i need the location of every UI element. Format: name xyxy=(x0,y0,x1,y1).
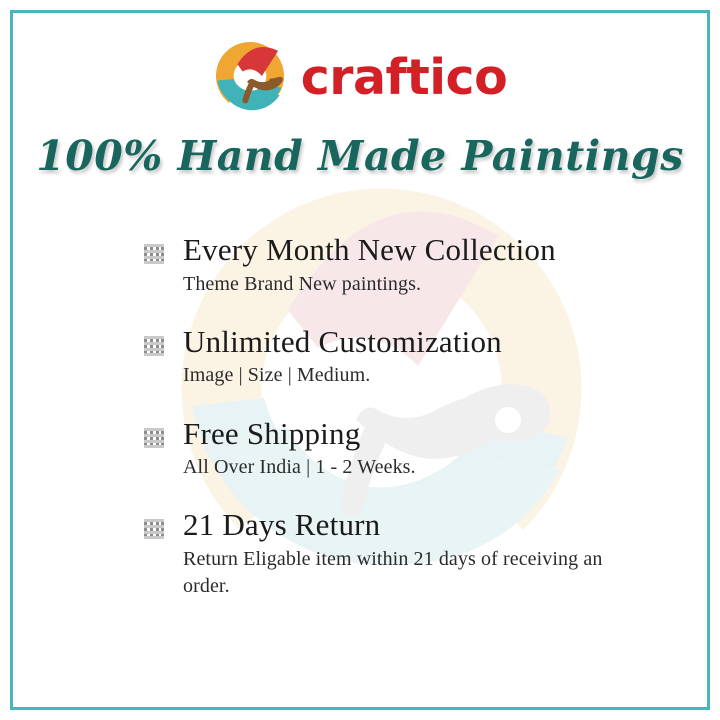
woven-square-bullet-icon xyxy=(143,518,165,540)
feature-title: Free Shipping xyxy=(183,416,613,453)
feature-subtitle: All Over India | 1 - 2 Weeks. xyxy=(183,454,613,481)
woven-square-bullet-icon xyxy=(143,243,165,265)
list-item: Free Shipping All Over India | 1 - 2 Wee… xyxy=(143,416,613,482)
feature-title: Unlimited Customization xyxy=(183,324,613,361)
woven-square-bullet-icon xyxy=(143,427,165,449)
feature-subtitle: Image | Size | Medium. xyxy=(183,362,613,389)
brand-logo: craftico xyxy=(0,34,720,118)
feature-subtitle: Theme Brand New paintings. xyxy=(183,271,613,298)
feature-title: Every Month New Collection xyxy=(183,232,613,269)
page-title: 100% Hand Made Paintings xyxy=(0,132,720,180)
craftico-c-brush-logo-icon xyxy=(213,39,287,113)
list-item: Unlimited Customization Image | Size | M… xyxy=(143,324,613,390)
list-item: Every Month New Collection Theme Brand N… xyxy=(143,232,613,298)
brand-wordmark: craftico xyxy=(301,53,508,102)
list-item: 21 Days Return Return Eligable item with… xyxy=(143,507,613,600)
feature-title: 21 Days Return xyxy=(183,507,613,544)
woven-square-bullet-icon xyxy=(143,335,165,357)
feature-list: Every Month New Collection Theme Brand N… xyxy=(143,232,613,600)
feature-subtitle: Return Eligable item within 21 days of r… xyxy=(183,546,613,600)
promo-banner: craftico 100% Hand Made Paintings E xyxy=(0,0,720,720)
